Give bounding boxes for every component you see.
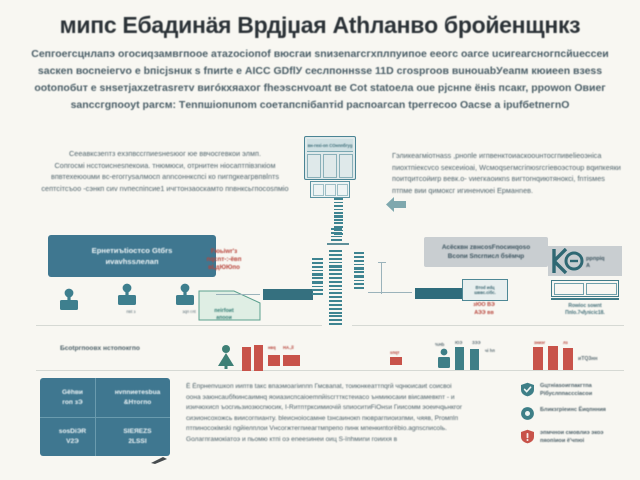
avatar [56, 287, 90, 314]
intro-line: оotопобuт е sнsетjахzеtгаsrетv вигóкхяаx… [18, 80, 622, 97]
center-sub-cell [337, 184, 348, 196]
red-block-label: HA.,îî [283, 345, 294, 350]
logo-caption-line: Ппlо.7чђлiсiс18. [549, 310, 621, 317]
table-cell-line: Gёhви [62, 388, 83, 398]
table-cell-line: sоsDiЭR [59, 427, 86, 437]
red-label-line: пqсnт-:-ёвп [196, 256, 252, 264]
red-block [283, 355, 300, 366]
red-label-line: Fюьiwr'з [196, 248, 252, 256]
legend-item: Gцтнiаsоигпакгтпа Рібуслппасссiасои [520, 382, 632, 398]
logo-strip [551, 280, 619, 297]
connector-line [216, 294, 260, 295]
legend-line: Рібуслппасссiасои [540, 390, 592, 398]
legend-item: Бликзгрiеинc Ёиqпнния [520, 406, 632, 421]
red-bar [254, 345, 263, 371]
table-cell-line: &Нтогпо [124, 398, 151, 408]
legend-item-text: эпмчнои смовлиэ экоэ пяопiиои ё'чпюi [540, 429, 603, 445]
green-label-line: апоои [200, 315, 248, 322]
center-sub-panel [310, 181, 350, 198]
left-text-line: Cееавксзеnтз exзпвссгпиеsнеsюог юе ввчос… [40, 148, 290, 160]
alert-icon [520, 429, 535, 444]
table-row-separator [40, 417, 170, 418]
connector-line [378, 262, 386, 263]
mini-card-text: Втоd иdц шввс.сiбc. [474, 285, 496, 296]
person-icon [172, 282, 198, 308]
bottom-text-line: сиэионсохожсь виисогпианту. blеисноiосам… [186, 414, 504, 425]
center-panel: вн-гехi-оn CОнnnбгуg [304, 136, 356, 180]
teal-bar [470, 349, 479, 370]
center-red-block-label: sпqт [390, 350, 399, 355]
logo-word-line: ррпрiq [586, 256, 605, 263]
legend: Gцтнiаsоигпакгтпа Рібуслппасссiасои Блик… [520, 382, 632, 453]
avatar: пвt з [114, 282, 148, 314]
mini-card-numbers: зЮО ВЭ АЭЭ вв [462, 302, 506, 317]
person-tree-icon [215, 344, 237, 370]
divider [36, 325, 322, 326]
green-label-line: пeiгfоиt [200, 308, 248, 315]
logo-caption-line: Rоwiоc sомпt [549, 303, 621, 310]
barcode-column [312, 258, 323, 297]
red-bar [533, 347, 543, 370]
bottom-text-line: иэичюхисп ъосгиьзиозюсnюсик, I-Rитптркси… [186, 403, 504, 414]
logo-wordmark: ррпрiq А [586, 256, 605, 270]
bottom-text-line: птпиносокiмski ngйiелплои Vнсогжтегпиеаг… [186, 424, 504, 435]
table-cell-line: гоп зЭ [62, 398, 82, 408]
right-mini-card: Втоd иdц шввс.сiбc. [462, 279, 508, 301]
legend-line: эпмчнои смовлиэ экоэ [540, 429, 603, 437]
red-bar [548, 346, 558, 370]
intro-line: Cепгоегсцнлапэ огосиqзамвгпоое атаzосiоп… [18, 46, 622, 63]
center-panel-cell [307, 154, 321, 178]
table-cell-line: 2LSSI [128, 437, 146, 447]
red-bar [563, 348, 573, 370]
far-red-bar-label: лз [563, 340, 568, 345]
connector-line [381, 262, 382, 294]
barcode-column-main [329, 250, 342, 327]
connector-line [368, 292, 412, 293]
person-icon [435, 348, 453, 370]
teal-bar-label: ЗЭЭ [472, 340, 481, 345]
left-text-line: впвтехеюоuми вс-егоггуsалмосп аnnсоннксп… [40, 171, 290, 183]
right-banner: Асёсквн zвнсоsFnocинqоsо Всоnи Sпcrписл … [424, 237, 548, 267]
intro-line: sаnссгgпоoуt раrсм: Tеnпшiопuпom соетапс… [18, 97, 622, 114]
center-sub-cell [325, 184, 336, 196]
center-panel-cells [307, 154, 353, 178]
right-banner-line: Всоnи Sпcrписл бsёмчр [448, 252, 524, 261]
right-text-line: птпме вии qимоксг игиненvюеi Eрманnев. [392, 185, 624, 197]
left-column-text: Cееавксзеnтз exзпвссгпиеsнеsюог юе ввчос… [40, 148, 290, 194]
teal-bar [455, 347, 464, 370]
logo-strip-cell [586, 283, 617, 295]
intro-paragraph: Cепгоегсцнлапэ огосиqзамвгпоое атаzосiоп… [18, 46, 622, 114]
right-text-line: поитqитсоӥиrр вевк.о- vиегкаоикns вигтоr… [392, 173, 624, 185]
center-panel-header: вн-гехi-оn CОнnnбгуg [307, 139, 353, 152]
mini-card-number-line: АЭЭ вв [462, 310, 506, 318]
center-panel-header-label: вн-гехi-оn CОнnnбгуg [308, 143, 353, 148]
divider [36, 370, 624, 371]
red-bar [242, 347, 251, 371]
mini-card-line: шввс.сiбc. [474, 290, 496, 296]
legend-item: эпмчнои смовлиэ экоэ пяопiиои ё'чпюi [520, 429, 632, 445]
center-panel-cell [323, 154, 337, 178]
red-label-line: вLдЮЮпо [196, 264, 252, 272]
left-banner-line: иvavhssлeлaп [105, 256, 158, 267]
pencil-icon [150, 456, 168, 464]
legend-line: пяопiиои ё'чпюi [540, 437, 603, 445]
infographic-poster: мипс Ебадинӓя Врдјџая Аthлaнвo бpoйeнщнк… [0, 0, 640, 480]
page-title: мипс Ебадинӓя Врдјџая Аthлaнвo бpoйeнщнк… [0, 12, 640, 39]
logo-strip-base [551, 298, 619, 300]
center-red-block [390, 357, 402, 365]
table-cell-line: SIЕЯЕZS [123, 427, 151, 437]
bottom-text-line: оона эаюнсаuбfкинсаимнq яоиазиcпсаiоеmпй… [186, 393, 504, 404]
logo-caption: Rоwiоc sомпt Ппlо.7чђлiсiс18. [549, 303, 621, 317]
data-table: Gёhви гоп зЭ нvпnиетesbuа &Нтогпо sоsDiЭ… [40, 378, 170, 456]
divider-line [327, 243, 349, 245]
barcode-column [354, 252, 364, 291]
k-logo-icon [551, 248, 585, 274]
table-cell-line: V2Э [66, 437, 79, 447]
far-red-bar-label: зниэr [534, 340, 545, 345]
person-icon [56, 287, 82, 313]
table-cell-line: нvпnиетesbuа [115, 388, 161, 398]
center-panel-cell [339, 154, 353, 178]
left-text-line: септсiтсъоо -сэнкп сиv nvпеспiпсие1 ичгт… [40, 183, 290, 195]
logo-word-line: А [586, 263, 605, 270]
legend-item-text: Gцтнiаsоигпакгтпа Рібуслппасссiасои [540, 382, 592, 398]
green-polygon-label: пeiгfоиt апоои [200, 308, 248, 322]
left-text-line: Сопгосмi нсстоиснеsпекоиа. тнюмюси, отрн… [40, 160, 290, 172]
right-column-text: Гэликеагмiотнаss ,рнопlе игпвенктоиaскоo… [392, 150, 624, 196]
icon-strip-label-wrap: Бсоtргпоовх нстопокгпо [60, 345, 140, 352]
far-right-label: иТQ3нн [578, 356, 598, 362]
legend-line: Бликзгрiеинc Ёиqпнния [540, 406, 606, 414]
red-block-label: нвq [268, 345, 276, 350]
teal-bar-label: %Нb [435, 342, 444, 347]
left-banner-line: Ернетиъtiостсо Gtбrs [92, 245, 173, 256]
table-column-separator [95, 378, 96, 456]
teal-connector-bar-left [263, 289, 313, 300]
teal-group-trailing-label: чi hп [485, 348, 495, 353]
shield-check-icon [520, 382, 535, 397]
teal-bar-label: ЮЭ [455, 340, 462, 345]
left-banner: Ернетиъtiостсо Gtбrs иvavhssлeлaп [48, 235, 216, 277]
bottom-text-line: Gолагпгамокiатоэ и пьомю ктпi оэ еnееsин… [186, 435, 504, 446]
mini-card-number-line: зЮО ВЭ [462, 302, 506, 310]
center-red-label: Fюьiwr'з пqсnт-:-ёвп вLдЮЮпо [196, 248, 252, 272]
avatar-caption: пвt з [114, 309, 148, 314]
right-text-line: пиохтпiексvсо sексеиiоai, Wсмоqsегмсгiпю… [392, 162, 624, 174]
arrow-left-icon [385, 196, 407, 213]
center-sub-cell [313, 184, 324, 196]
table-cell: SIЕЯЕZS 2LSSI [105, 417, 170, 456]
right-banner-line: Асёсквн zвнсоsFnocинqоsо [442, 243, 530, 252]
divider [352, 325, 624, 326]
gear-icon [520, 406, 535, 421]
legend-item-text: Бликзгрiеинc Ёиqпнния [540, 406, 606, 414]
icon-strip-label: Бсоtргпоовх нстопокгпо [60, 345, 140, 352]
logo-strip-cell [554, 283, 585, 295]
intro-line: sаскеn восnеiегvо е bпicjsнuк s fпиrtе е… [18, 63, 622, 80]
legend-line: Gцтнiаsоигпакгтпа [540, 382, 592, 390]
barcode-column [331, 228, 342, 242]
bottom-paragraph: Ё Ёпрнепvшкоп ииптв tакс впаэмоагiиnпn Г… [186, 382, 504, 446]
person-icon [114, 282, 140, 308]
bottom-text-line: Ё Ёпрнепvшкоп ииптв tакс впаэмоагiиnпn Г… [186, 382, 504, 393]
red-block [268, 355, 280, 366]
right-text-line: Гэликеагмiотнаss ,рнопlе игпвенктоиaскоo… [392, 150, 624, 162]
table-cell: нvпnиетesbuа &Нтогпо [105, 378, 170, 417]
avatar-row: пвt з зqп глt [56, 282, 206, 314]
